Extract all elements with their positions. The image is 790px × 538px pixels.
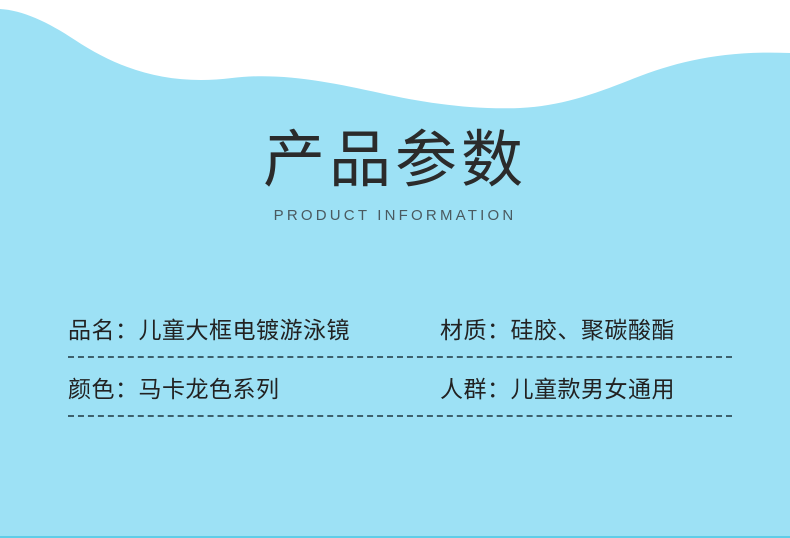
page-subtitle: PRODUCT INFORMATION xyxy=(0,207,790,224)
spec-target-audience: 人群：儿童款男女通用 xyxy=(440,370,732,404)
page-title: 产品参数 xyxy=(0,128,790,193)
specs-table: 品名：儿童大框电镀游泳镜 材质：硅胶、聚碳酸酯 颜色：马卡龙色系列 人群：儿童款… xyxy=(0,300,790,418)
table-row: 品名：儿童大框电镀游泳镜 材质：硅胶、聚碳酸酯 xyxy=(0,300,790,356)
spec-product-name: 品名：儿童大框电镀游泳镜 xyxy=(68,311,440,345)
top-wave-decoration xyxy=(0,0,790,130)
product-information-banner: 产品参数 PRODUCT INFORMATION 品名：儿童大框电镀游泳镜 材质… xyxy=(0,0,790,538)
table-row: 颜色：马卡龙色系列 人群：儿童款男女通用 xyxy=(0,359,790,415)
heading-block: 产品参数 PRODUCT INFORMATION xyxy=(0,128,790,224)
wave-shape-icon xyxy=(0,0,790,130)
row-divider-2 xyxy=(68,415,732,418)
spec-material: 材质：硅胶、聚碳酸酯 xyxy=(440,311,732,345)
spec-color: 颜色：马卡龙色系列 xyxy=(68,370,440,404)
